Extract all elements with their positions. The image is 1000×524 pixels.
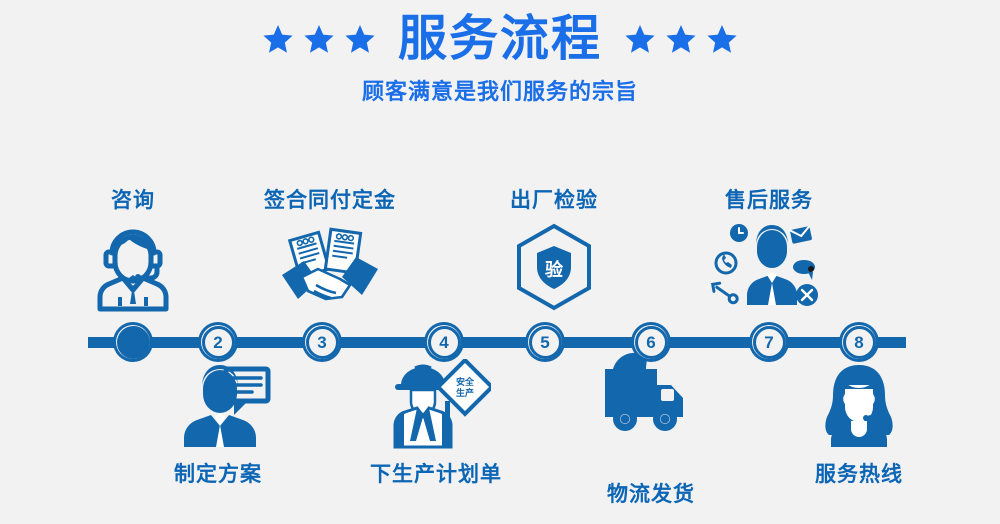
- step-2-label: 制定方案: [118, 464, 318, 485]
- timeline-node-6[interactable]: 6: [631, 322, 671, 362]
- node-ring: 7: [752, 325, 786, 359]
- customer-service-agent-icon: [33, 219, 233, 315]
- node-number: [117, 326, 150, 359]
- step-7-label: 售后服务: [669, 190, 869, 211]
- node-number: 4: [428, 326, 461, 359]
- process-timeline: 2 3 4 5 6 7 8 咨询: [0, 0, 1000, 524]
- step-3[interactable]: 签合同付定金: [230, 190, 430, 330]
- safety-sign-line2: 生产: [456, 387, 474, 398]
- female-operator-headset-icon: [759, 356, 959, 458]
- node-number: 6: [635, 326, 668, 359]
- node-ring: 2: [201, 325, 235, 359]
- timeline-node-3[interactable]: 3: [302, 322, 342, 362]
- step-3-label: 签合同付定金: [230, 190, 430, 211]
- person-with-plan-bubble-icon: [118, 356, 318, 458]
- node-number: 2: [202, 326, 235, 359]
- shield-character: 验: [545, 259, 564, 280]
- step-8[interactable]: 服务热线: [759, 356, 959, 501]
- node-number: 7: [753, 326, 786, 359]
- step-1[interactable]: 咨询: [33, 190, 233, 330]
- step-5[interactable]: 出厂检验 验: [454, 190, 654, 330]
- node-ring: [116, 325, 150, 359]
- step-5-label: 出厂检验: [454, 190, 654, 211]
- node-ring: 4: [427, 325, 461, 359]
- timeline-node-1[interactable]: [113, 322, 153, 362]
- node-ring: 5: [528, 325, 562, 359]
- node-ring: 6: [634, 325, 668, 359]
- timeline-node-7[interactable]: 7: [749, 322, 789, 362]
- hexagon-shield-inspect-icon: 验: [454, 219, 654, 315]
- step-4-label: 下生产计划单: [336, 464, 536, 485]
- step-8-label: 服务热线: [759, 464, 959, 485]
- step-6[interactable]: 物流发货: [551, 356, 751, 501]
- step-1-label: 咨询: [33, 190, 233, 211]
- safety-sign-line1: 安全: [456, 376, 475, 387]
- node-ring: 3: [305, 325, 339, 359]
- node-number: 3: [306, 326, 339, 359]
- step-2[interactable]: 制定方案: [118, 356, 318, 501]
- step-4[interactable]: 安全 生产 下生产计划单: [336, 356, 536, 501]
- timeline-node-5[interactable]: 5: [525, 322, 565, 362]
- node-number: 8: [843, 326, 876, 359]
- node-number: 5: [529, 326, 562, 359]
- timeline-node-8[interactable]: 8: [839, 322, 879, 362]
- after-sales-support-icon: [669, 219, 869, 315]
- worker-safety-sign-icon: 安全 生产: [336, 356, 536, 458]
- handshake-contract-icon: [230, 219, 430, 315]
- timeline-node-2[interactable]: 2: [198, 322, 238, 362]
- timeline-node-4[interactable]: 4: [424, 322, 464, 362]
- step-7[interactable]: 售后服务: [669, 190, 869, 330]
- step-6-label: 物流发货: [551, 484, 751, 505]
- node-ring: 8: [842, 325, 876, 359]
